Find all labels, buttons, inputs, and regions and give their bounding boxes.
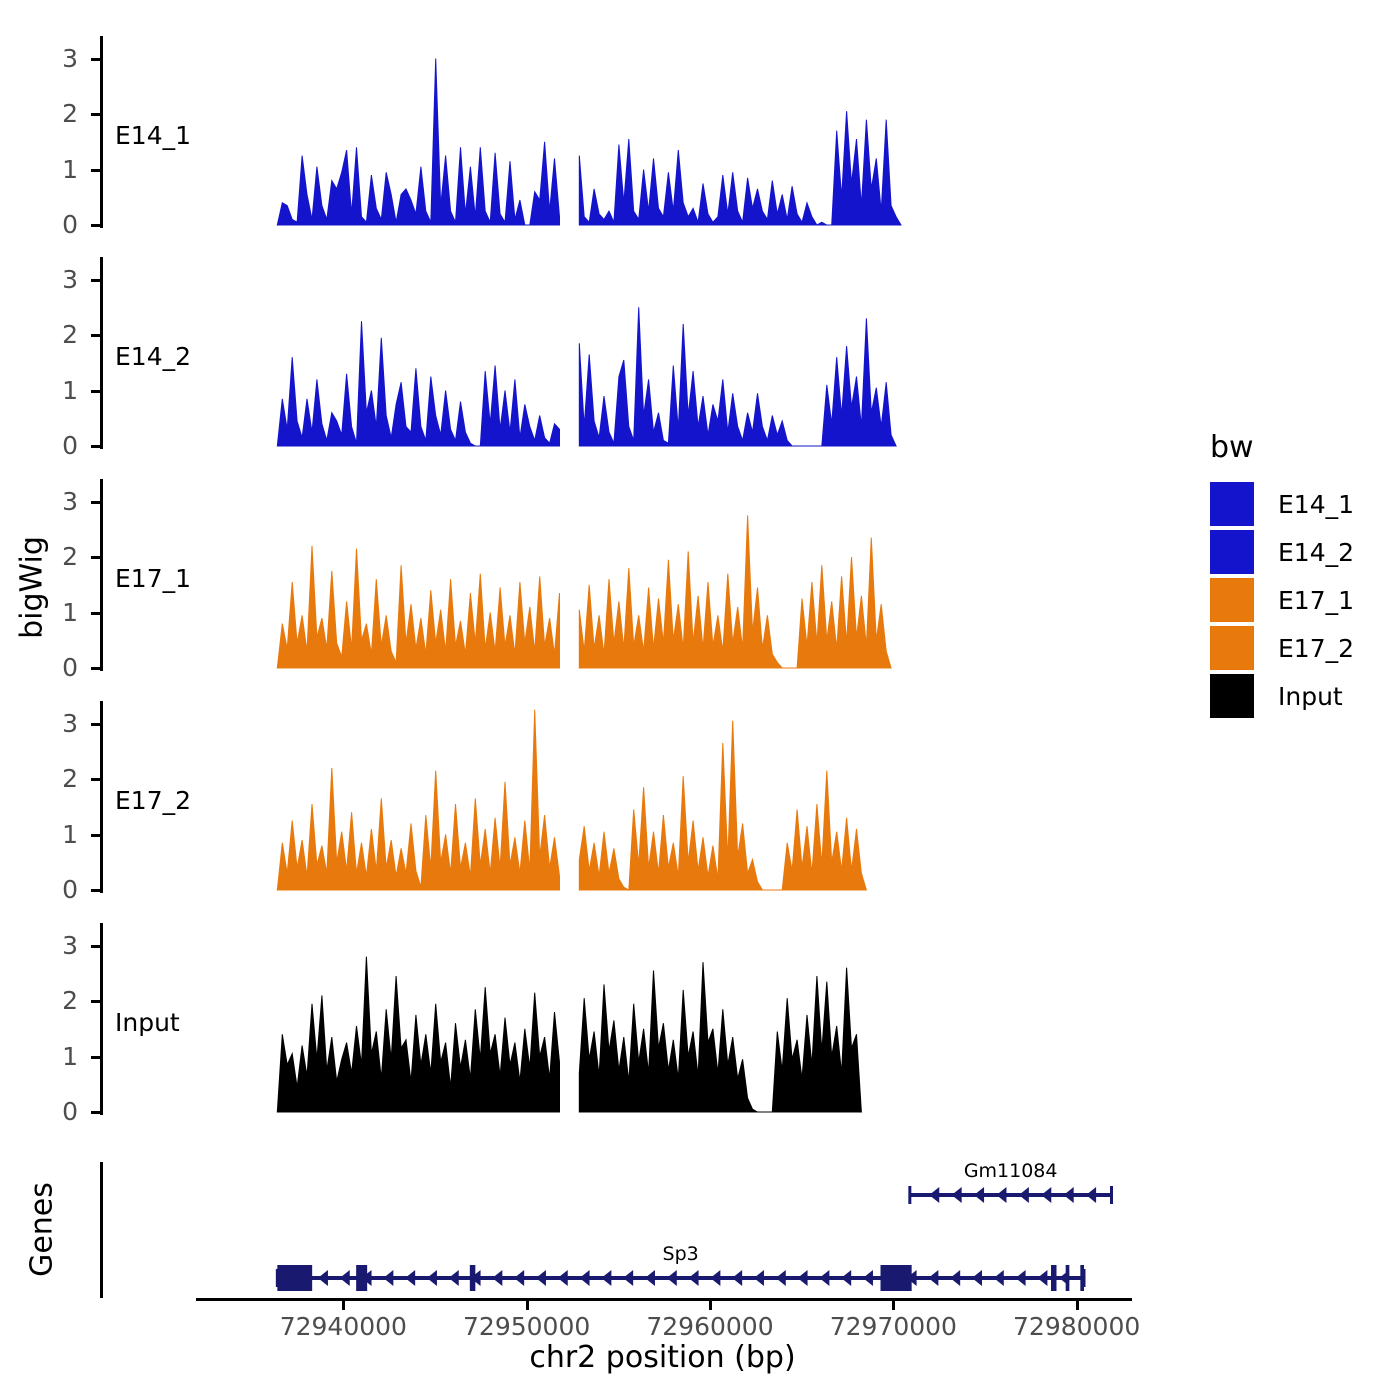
- legend-item-e14_1[interactable]: E14_1: [1210, 482, 1354, 526]
- legend-color-swatch: [1210, 626, 1254, 670]
- legend-item-e17_2[interactable]: E17_2: [1210, 626, 1354, 670]
- legend-item-e17_1[interactable]: E17_1: [1210, 578, 1354, 622]
- legend-title: bw: [1210, 430, 1254, 465]
- x-tick-mark: [526, 1301, 529, 1310]
- coverage-track-e14_2: [0, 194, 1160, 454]
- x-tick-mark: [709, 1301, 712, 1310]
- x-tick-label: 72980000: [987, 1314, 1167, 1340]
- svg-text:Sp3: Sp3: [663, 1243, 699, 1265]
- svg-text:Gm11084: Gm11084: [964, 1160, 1058, 1182]
- gene-track: Gm11084Sp3: [0, 1160, 1160, 1310]
- x-tick-mark: [342, 1301, 345, 1310]
- legend-item-label: E14_2: [1278, 538, 1354, 567]
- x-tick-label: 72970000: [803, 1314, 983, 1340]
- x-tick-mark: [1076, 1301, 1079, 1310]
- coverage-track-input: [0, 860, 1160, 1120]
- x-tick-label: 72940000: [253, 1314, 433, 1340]
- legend-item-label: E17_1: [1278, 586, 1354, 615]
- legend-item-label: E17_2: [1278, 634, 1354, 663]
- x-tick-label: 72950000: [437, 1314, 617, 1340]
- legend-item-e14_2[interactable]: E14_2: [1210, 530, 1354, 574]
- x-axis-title: chr2 position (bp): [195, 1340, 1130, 1375]
- legend-color-swatch: [1210, 482, 1254, 526]
- legend-color-swatch: [1210, 578, 1254, 622]
- legend-item-label: Input: [1278, 682, 1343, 711]
- x-axis-line: [196, 1298, 1132, 1301]
- legend-color-swatch: [1210, 530, 1254, 574]
- x-tick-mark: [892, 1301, 895, 1310]
- coverage-track-e17_1: [0, 416, 1160, 676]
- legend-item-label: E14_1: [1278, 490, 1354, 519]
- legend: bw E14_1E14_2E17_1E17_2Input: [1210, 430, 1400, 690]
- legend-item-input[interactable]: Input: [1210, 674, 1343, 718]
- coverage-track-e17_2: [0, 638, 1160, 898]
- x-tick-label: 72960000: [620, 1314, 800, 1340]
- legend-color-swatch: [1210, 674, 1254, 718]
